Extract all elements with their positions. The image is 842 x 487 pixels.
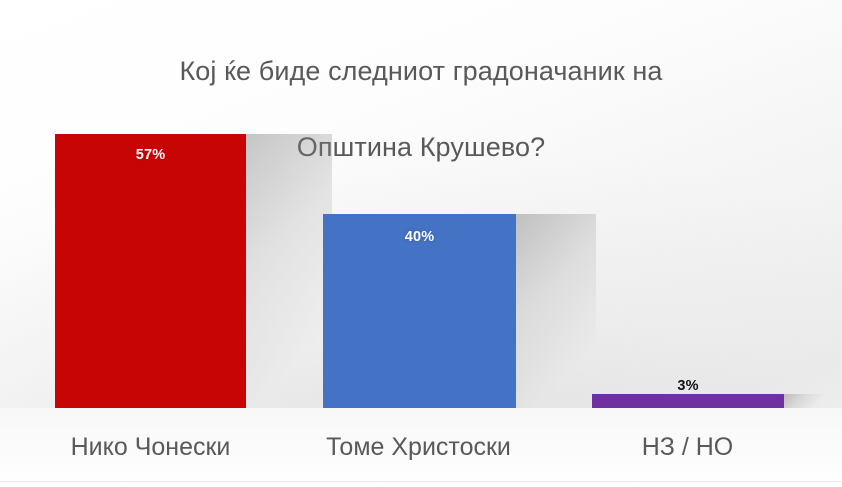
bar-shadow-1	[246, 134, 332, 408]
category-label-tome-hristoski: Томе Христоски	[298, 432, 539, 462]
bar-shadow-3	[784, 394, 824, 408]
bar-value-label-3: 3%	[592, 378, 784, 394]
bar-shadow-2	[516, 214, 596, 408]
bar-value-label-2: 40%	[323, 229, 516, 245]
plot-area: 57% 40% 3% Нико Чонески Томе Христоски Н…	[0, 0, 842, 487]
bar-value-label-1: 57%	[55, 147, 246, 163]
bar-niko-choneski[interactable]	[55, 134, 246, 408]
category-label-niko-choneski: Нико Чонески	[30, 432, 271, 462]
category-label-nz-no: НЗ / НО	[567, 432, 808, 462]
bar-chart: Кој ќе биде следниот градоначаник на Опш…	[0, 0, 842, 487]
bar-nz-no[interactable]	[592, 394, 784, 408]
